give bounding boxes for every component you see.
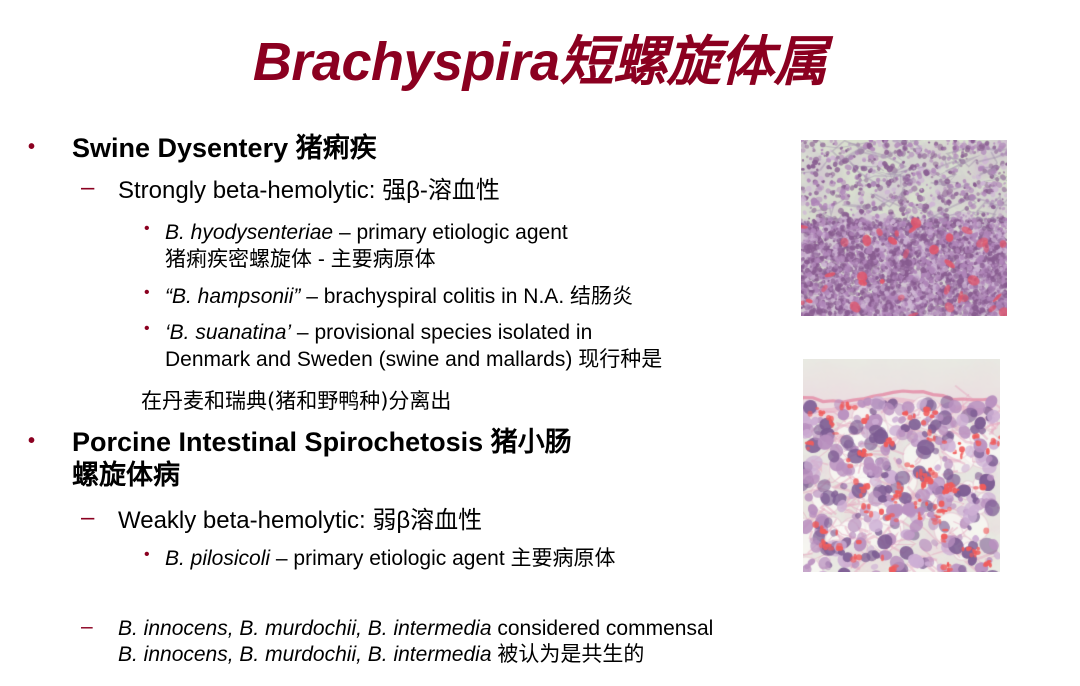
histology-image-top: [801, 140, 1007, 316]
bullet-b-suanatina-line2: Denmark and Sweden (swine and mallards) …: [165, 347, 845, 374]
bullet-dot-icon: •: [28, 431, 35, 451]
bullet-dash-icon: –: [81, 506, 94, 530]
commensal-text-line2: 被认为是共生的: [492, 643, 645, 666]
species-name-b-hyodysenteriae: B. hyodysenteriae: [165, 221, 333, 244]
bullet-b-suanatina-rest: – provisional species isolated in: [291, 321, 592, 344]
bullet-b-suanatina: • ‘B. suanatina’ – provisional species i…: [165, 320, 845, 374]
bullet-b-hampsonii-rest: – brachyspiral colitis in N.A. 结肠炎: [300, 285, 633, 308]
bullet-b-pilosicoli-rest: – primary etiologic agent 主要病原体: [270, 547, 615, 570]
bullet-b-pilosicoli: • B. pilosicoli – primary etiologic agen…: [165, 546, 865, 573]
bullet-strongly-beta-hemolytic-label: Strongly beta-hemolytic: 强β-溶血性: [118, 177, 500, 204]
histology-image-top-canvas: [801, 140, 1007, 316]
bullet-swine-dysentery-label: Swine Dysentery 猪痢疾: [72, 133, 377, 163]
bullet-commensal-species: – B. innocens, B. murdochii, B. intermed…: [118, 616, 948, 667]
histology-image-bottom: [803, 359, 1000, 572]
bullet-dot-icon: •: [28, 137, 35, 157]
bullet-b-hyodysenteriae-rest: – primary etiologic agent: [333, 221, 568, 244]
species-name-b-pilosicoli: B. pilosicoli: [165, 547, 270, 570]
commensal-text-line1: considered commensal: [492, 617, 714, 640]
bullet-swine-dysentery: • Swine Dysentery 猪痢疾: [72, 132, 377, 165]
bullet-dot-icon: •: [144, 547, 150, 563]
species-list-line2: B. innocens, B. murdochii, B. intermedia: [118, 643, 492, 666]
bullet-b-hyodysenteriae-line2: 猪痢疾密螺旋体 - 主要病原体: [165, 247, 795, 274]
bullet-dot-icon: •: [144, 285, 150, 301]
bullet-strongly-beta-hemolytic: – Strongly beta-hemolytic: 强β-溶血性: [118, 176, 500, 205]
trailing-chinese-line: 在丹麦和瑞典(猪和野鸭种)分离出: [141, 388, 451, 415]
species-name-b-hampsonii: “B. hampsonii”: [165, 285, 300, 308]
species-name-b-suanatina: ‘B. suanatina’: [165, 321, 291, 344]
bullet-b-hyodysenteriae: • B. hyodysenteriae – primary etiologic …: [165, 220, 795, 274]
bullet-weakly-beta-hemolytic-label: Weakly beta-hemolytic: 弱β溶血性: [118, 507, 482, 534]
bullet-porcine-intestinal-spirochetosis: • Porcine Intestinal Spirochetosis 猪小肠 螺…: [72, 426, 772, 492]
bullet-dot-icon: •: [144, 221, 150, 237]
histology-image-bottom-canvas: [803, 359, 1000, 572]
bullet-dash-icon: –: [81, 616, 93, 637]
bullet-b-hampsonii: • “B. hampsonii” – brachyspiral colitis …: [165, 284, 845, 311]
bullet-dot-icon: •: [144, 321, 150, 337]
bullet-weakly-beta-hemolytic: – Weakly beta-hemolytic: 弱β溶血性: [118, 506, 482, 535]
bullet-pis-label-line2: 螺旋体病: [72, 459, 772, 492]
bullet-dash-icon: –: [81, 176, 94, 200]
species-list-line1: B. innocens, B. murdochii, B. intermedia: [118, 617, 492, 640]
bullet-pis-label-line1: Porcine Intestinal Spirochetosis 猪小肠: [72, 427, 572, 457]
page-title: Brachyspira短螺旋体属: [0, 34, 1080, 91]
slide-canvas: Brachyspira短螺旋体属 • Swine Dysentery 猪痢疾 –…: [0, 0, 1080, 686]
